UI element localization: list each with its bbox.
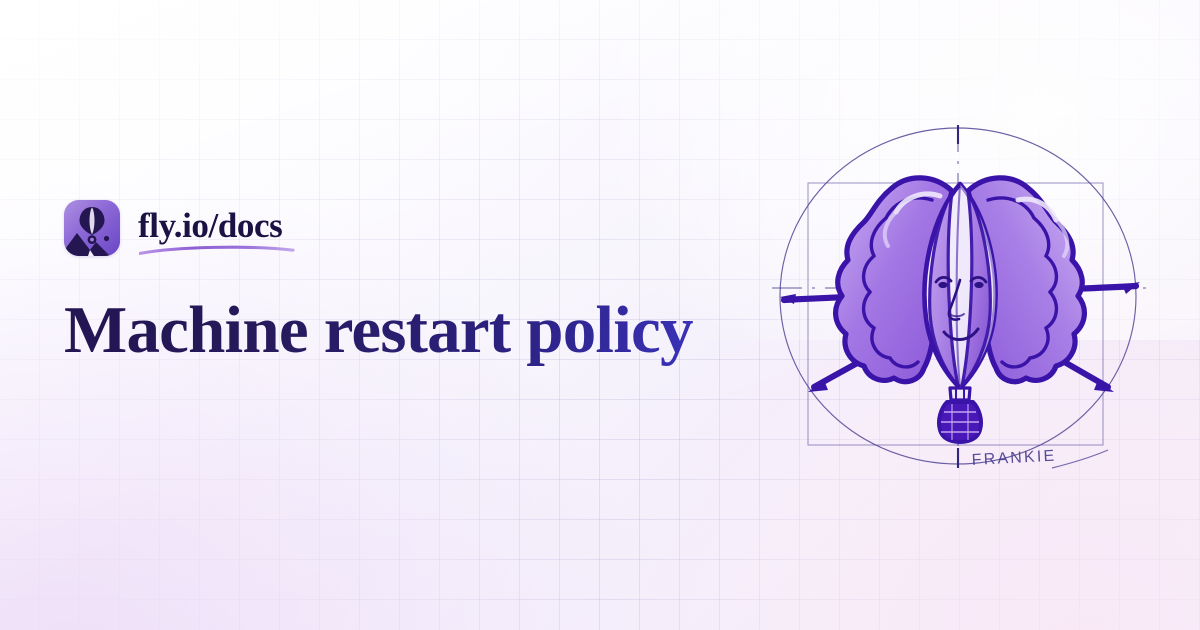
brand-name-label: fly.io/docs [138, 208, 282, 243]
og-card: fly.io/docs Machine restart policy [0, 0, 1200, 630]
page-title: Machine restart policy [64, 260, 764, 366]
swoosh-underline-icon [139, 244, 295, 256]
balloon-basket [939, 388, 981, 442]
content-block: fly.io/docs Machine restart policy [64, 196, 764, 366]
fly-balloon-logo-icon[interactable] [64, 200, 120, 256]
brand-row[interactable]: fly.io/docs [64, 196, 764, 260]
caption-text: FRANKIE [971, 448, 1057, 469]
brand-wordmark[interactable]: fly.io/docs [138, 208, 282, 249]
frankie-vitruvian-balloon-illustration: FRANKIE [756, 96, 1166, 496]
caption-label: FRANKIE [971, 448, 1108, 469]
